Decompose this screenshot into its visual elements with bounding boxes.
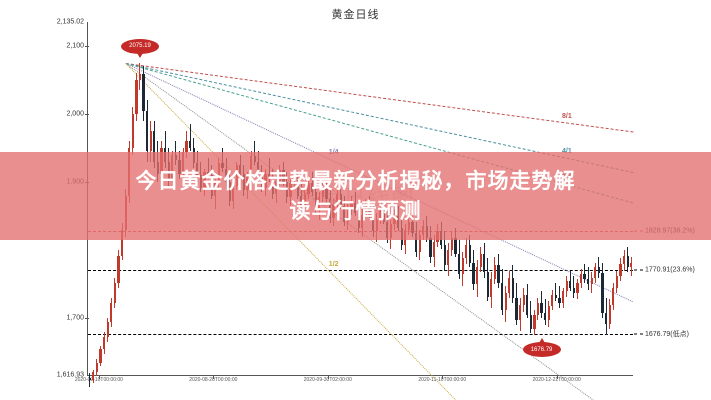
candle-body [501, 283, 503, 310]
fibonacci-level-label: 1676.79(低点) [645, 329, 689, 339]
candle-body [96, 363, 98, 372]
candle-body [465, 245, 467, 259]
fan-line [126, 63, 633, 132]
chart-screenshot: 黄金日线 2,135.022,1002,0001,9001,7001,616.9… [0, 0, 711, 400]
candle-body [483, 254, 485, 272]
candle-body [616, 276, 618, 288]
candle-body [117, 256, 119, 283]
chart-title: 黄金日线 [0, 6, 711, 22]
candle-body [505, 293, 507, 311]
candle-body [530, 315, 532, 329]
candle-body [523, 295, 525, 305]
candle-body [562, 291, 564, 303]
candle-body [494, 265, 496, 279]
x-axis-tick [442, 375, 443, 379]
candle-body [458, 254, 460, 274]
overlay-headline-line1: 今日黄金价格走势最新分析揭秘，市场走势解 [136, 166, 576, 196]
candle-body [107, 322, 109, 338]
candle-body [462, 258, 464, 274]
candle-body [92, 372, 94, 380]
candle-body [99, 349, 101, 363]
candle-body [587, 279, 589, 284]
candle-body [569, 281, 571, 288]
candle-body [576, 283, 578, 293]
x-axis-tick [328, 375, 329, 379]
candle-body [142, 74, 144, 110]
candle-body [469, 245, 471, 263]
candle-body [497, 265, 499, 283]
candle-body [135, 80, 137, 114]
candle-body [533, 315, 535, 329]
y-axis-tick-label: 2,100 [0, 42, 84, 49]
candle-body [544, 313, 546, 320]
y-axis-tick-label: 1,616.93 [0, 372, 84, 379]
y-axis-tick-label: 2,000 [0, 110, 84, 117]
candle-body [601, 273, 603, 313]
fibonacci-level-label: 1770.91(23.6%) [645, 267, 695, 274]
overlay-banner: 今日黄金价格走势最新分析揭秘，市场走势解 读与行情预测 [0, 152, 711, 240]
candle-body [444, 245, 446, 265]
fibonacci-label-dash [634, 270, 643, 271]
candle-body [139, 74, 141, 79]
candle-body [487, 272, 489, 297]
y-axis-tick-label: 2,135.02 [0, 19, 84, 26]
candle-body [110, 303, 112, 321]
candle-body [114, 283, 116, 303]
candle-body [508, 278, 510, 293]
candle-body [526, 295, 528, 315]
candle-body [189, 141, 191, 148]
candle-body [591, 278, 593, 285]
candle-body [146, 111, 148, 152]
candle-wick [559, 286, 560, 308]
candle-body [548, 306, 550, 320]
candle-body [609, 305, 611, 324]
candle-body [619, 264, 621, 276]
candle-body [580, 274, 582, 283]
candle-body [150, 131, 152, 151]
x-axis-tick [99, 375, 100, 379]
x-axis-tick [213, 375, 214, 379]
candle-body [512, 278, 514, 298]
candle-body [558, 298, 560, 303]
fibonacci-level-line [88, 334, 633, 335]
candle-body [103, 337, 105, 349]
candle-body [566, 281, 568, 291]
candle-body [630, 263, 632, 268]
candle-body [583, 274, 585, 279]
candle-body [447, 250, 449, 265]
low-price-marker: 1676.79 [523, 342, 561, 357]
candle-body [519, 305, 521, 320]
candle-body [480, 254, 482, 268]
candle-body [605, 313, 607, 324]
candle-body [515, 298, 517, 320]
candle-body [476, 267, 478, 284]
candle-body [612, 288, 614, 305]
y-axis-tick-label: 1,700 [0, 315, 84, 322]
candle-body [594, 267, 596, 277]
fibonacci-level-line [88, 270, 633, 271]
candle-body [185, 141, 187, 152]
candle-wick [555, 283, 556, 301]
fan-line-label: 8/1 [562, 113, 572, 120]
fan-line-label: 1/2 [329, 261, 339, 268]
fibonacci-label-dash [634, 334, 643, 335]
candle-body [472, 263, 474, 285]
candle-body [433, 242, 435, 257]
candle-body [540, 303, 542, 313]
candle-body [89, 378, 91, 379]
x-axis-line [87, 375, 633, 376]
candle-body [551, 295, 553, 307]
high-price-marker: 2075.19 [121, 39, 159, 54]
candle-body [555, 295, 557, 298]
candle-body [627, 256, 629, 268]
candle-body [537, 303, 539, 315]
candle-body [429, 238, 431, 257]
candle-body [132, 114, 134, 148]
candle-body [490, 279, 492, 297]
candle-body [454, 238, 456, 254]
candle-body [598, 267, 600, 273]
overlay-headline-line2: 读与行情预测 [290, 196, 422, 226]
candle-body [573, 288, 575, 293]
candle-wick [89, 373, 90, 387]
candle-body [623, 256, 625, 264]
